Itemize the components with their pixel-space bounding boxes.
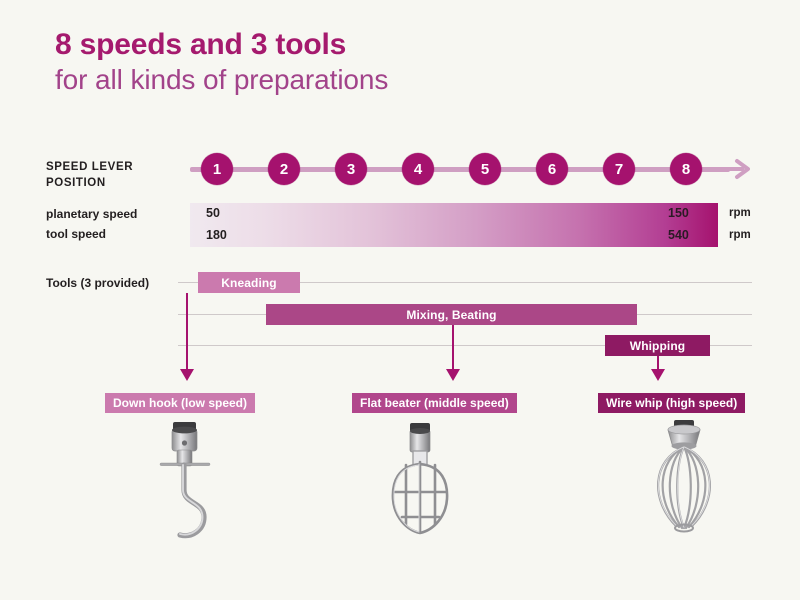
title-line-2: for all kinds of preparations [55,64,388,96]
tool-speed-bar [190,225,718,247]
dough-hook-icon [140,418,236,543]
planetary-speed-unit: rpm [729,207,751,219]
arrow-right-icon [724,158,750,180]
speed-position-3[interactable]: 3 [335,153,367,185]
speed-lever-label-line2: POSITION [46,176,133,192]
wire-whip-icon [638,416,730,544]
tool-speed-unit: rpm [729,229,751,241]
tools-section-label: Tools (3 provided) [46,275,149,291]
tool-speed-label: tool speed [46,226,106,242]
planetary-speed-label: planetary speed [46,206,137,222]
speed-position-7[interactable]: 7 [603,153,635,185]
range-kneading[interactable]: Kneading [198,272,300,293]
speed-lever-label-line1: SPEED LEVER [46,160,133,176]
tool-badge-down-hook[interactable]: Down hook (low speed) [105,393,255,413]
infographic-canvas: 8 speeds and 3 tools for all kinds of pr… [0,0,800,600]
planetary-speed-max: 150 [668,206,689,220]
range-whipping[interactable]: Whipping [605,335,710,356]
title-line-1: 8 speeds and 3 tools [55,28,388,62]
page-title: 8 speeds and 3 tools for all kinds of pr… [55,28,388,96]
speed-position-2[interactable]: 2 [268,153,300,185]
speed-lever-label: SPEED LEVER POSITION [46,160,133,191]
tool-speed-min: 180 [206,228,227,242]
flat-beater-icon [382,420,460,542]
speed-position-8[interactable]: 8 [670,153,702,185]
planetary-speed-min: 50 [206,206,220,220]
tool-speed-max: 540 [668,228,689,242]
tool-badge-wire-whip[interactable]: Wire whip (high speed) [598,393,745,413]
range-mixing-beating[interactable]: Mixing, Beating [266,304,637,325]
speed-position-1[interactable]: 1 [201,153,233,185]
speed-position-4[interactable]: 4 [402,153,434,185]
planetary-speed-bar [190,203,718,225]
tool-badge-flat-beater[interactable]: Flat beater (middle speed) [352,393,517,413]
speed-position-5[interactable]: 5 [469,153,501,185]
speed-position-6[interactable]: 6 [536,153,568,185]
